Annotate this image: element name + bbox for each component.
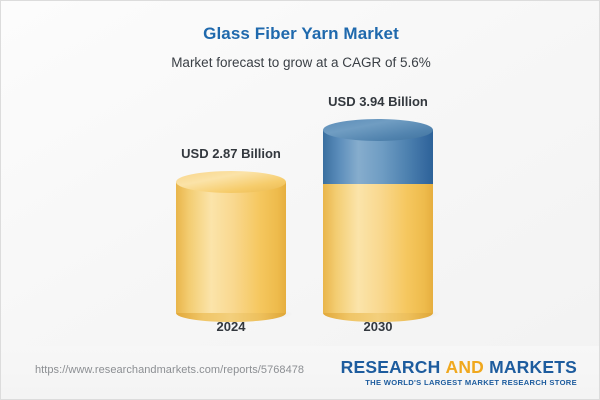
bar-category-label-2030: 2030 <box>308 319 448 334</box>
logo-word-and: AND <box>445 357 484 377</box>
bar-cylinder-2030 <box>323 119 433 313</box>
logo-word-markets: MARKETS <box>489 357 577 377</box>
bar-segment-base-2030 <box>323 184 433 313</box>
market-infographic: Glass Fiber Yarn Market Market forecast … <box>0 0 600 400</box>
report-url[interactable]: https://www.researchandmarkets.com/repor… <box>35 364 304 376</box>
bar-top-ellipse-2024 <box>176 171 286 193</box>
bar-top-ellipse-2030 <box>323 119 433 141</box>
bar-segment-base-2024 <box>176 182 286 313</box>
logo-wordmark: RESEARCH AND MARKETS <box>341 357 577 377</box>
bar-category-label-2024: 2024 <box>161 319 301 334</box>
logo-tagline: THE WORLD'S LARGEST MARKET RESEARCH STOR… <box>341 378 577 387</box>
research-and-markets-logo[interactable]: RESEARCH AND MARKETS THE WORLD'S LARGEST… <box>341 357 577 387</box>
chart-plot-area: USD 2.87 Billion 2024 USD 3.94 Billion 2… <box>1 1 600 346</box>
footer: https://www.researchandmarkets.com/repor… <box>1 346 599 399</box>
bar-value-label-2024: USD 2.87 Billion <box>161 146 301 161</box>
bar-value-label-2030: USD 3.94 Billion <box>308 94 448 109</box>
logo-word-research: RESEARCH <box>341 357 441 377</box>
bar-cylinder-2024 <box>176 171 286 313</box>
